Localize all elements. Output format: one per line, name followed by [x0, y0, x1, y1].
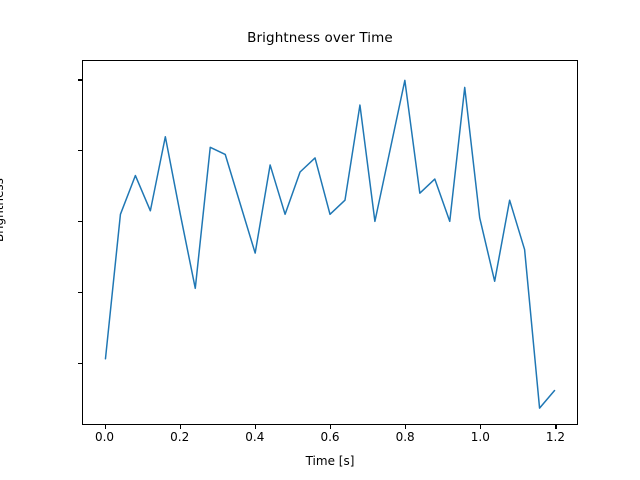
- x-tick-label: 0.0: [95, 430, 114, 444]
- x-axis-label: Time [s]: [82, 454, 578, 468]
- x-tick-mark: [480, 425, 481, 429]
- brightness-line: [105, 80, 554, 408]
- x-tick-mark: [330, 425, 331, 429]
- line-series: [83, 61, 577, 424]
- x-tick-mark: [255, 425, 256, 429]
- x-tick-label: 0.2: [170, 430, 189, 444]
- x-tick-mark: [105, 425, 106, 429]
- y-axis-label: Brightness: [0, 178, 6, 242]
- x-tick-mark: [405, 425, 406, 429]
- x-tick-label: 0.4: [245, 430, 264, 444]
- x-tick-label: 0.6: [320, 430, 339, 444]
- chart-figure: Brightness over Time Brightness Time [s]…: [0, 0, 640, 480]
- x-tick-mark: [180, 425, 181, 429]
- x-tick-label: 0.8: [396, 430, 415, 444]
- x-tick-label: 1.2: [546, 430, 565, 444]
- x-tick-mark: [555, 425, 556, 429]
- plot-area: [82, 60, 578, 425]
- x-tick-label: 1.0: [471, 430, 490, 444]
- chart-title: Brightness over Time: [0, 30, 640, 46]
